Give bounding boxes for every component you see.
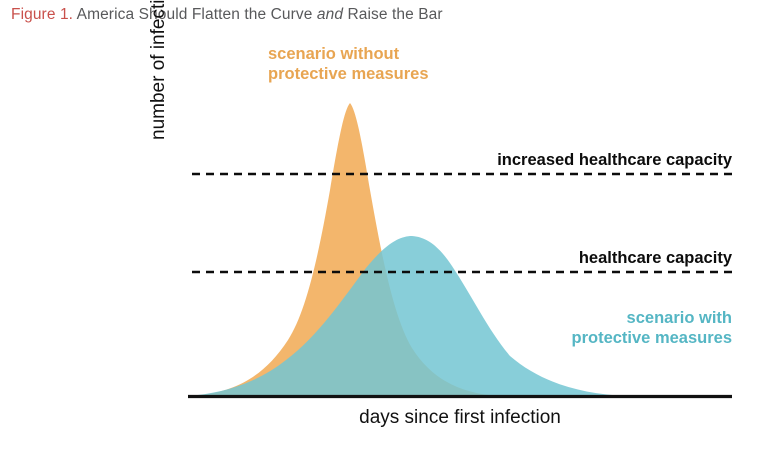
- y-axis-title-wrapper: number of infections: [150, 0, 180, 400]
- annotation-without-measures: scenario without protective measures: [268, 44, 429, 85]
- label-increased-healthcare-capacity: increased healthcare capacity: [497, 151, 732, 170]
- series-area-with-measures: [188, 236, 626, 396]
- x-axis-title: days since first infection: [188, 407, 732, 429]
- figure-container: Figure 1. America Should Flatten the Cur…: [0, 0, 768, 450]
- label-healthcare-capacity: healthcare capacity: [579, 249, 732, 268]
- y-axis-title: number of infections: [148, 0, 170, 140]
- annotation-with-measures: scenario with protective measures: [572, 308, 733, 349]
